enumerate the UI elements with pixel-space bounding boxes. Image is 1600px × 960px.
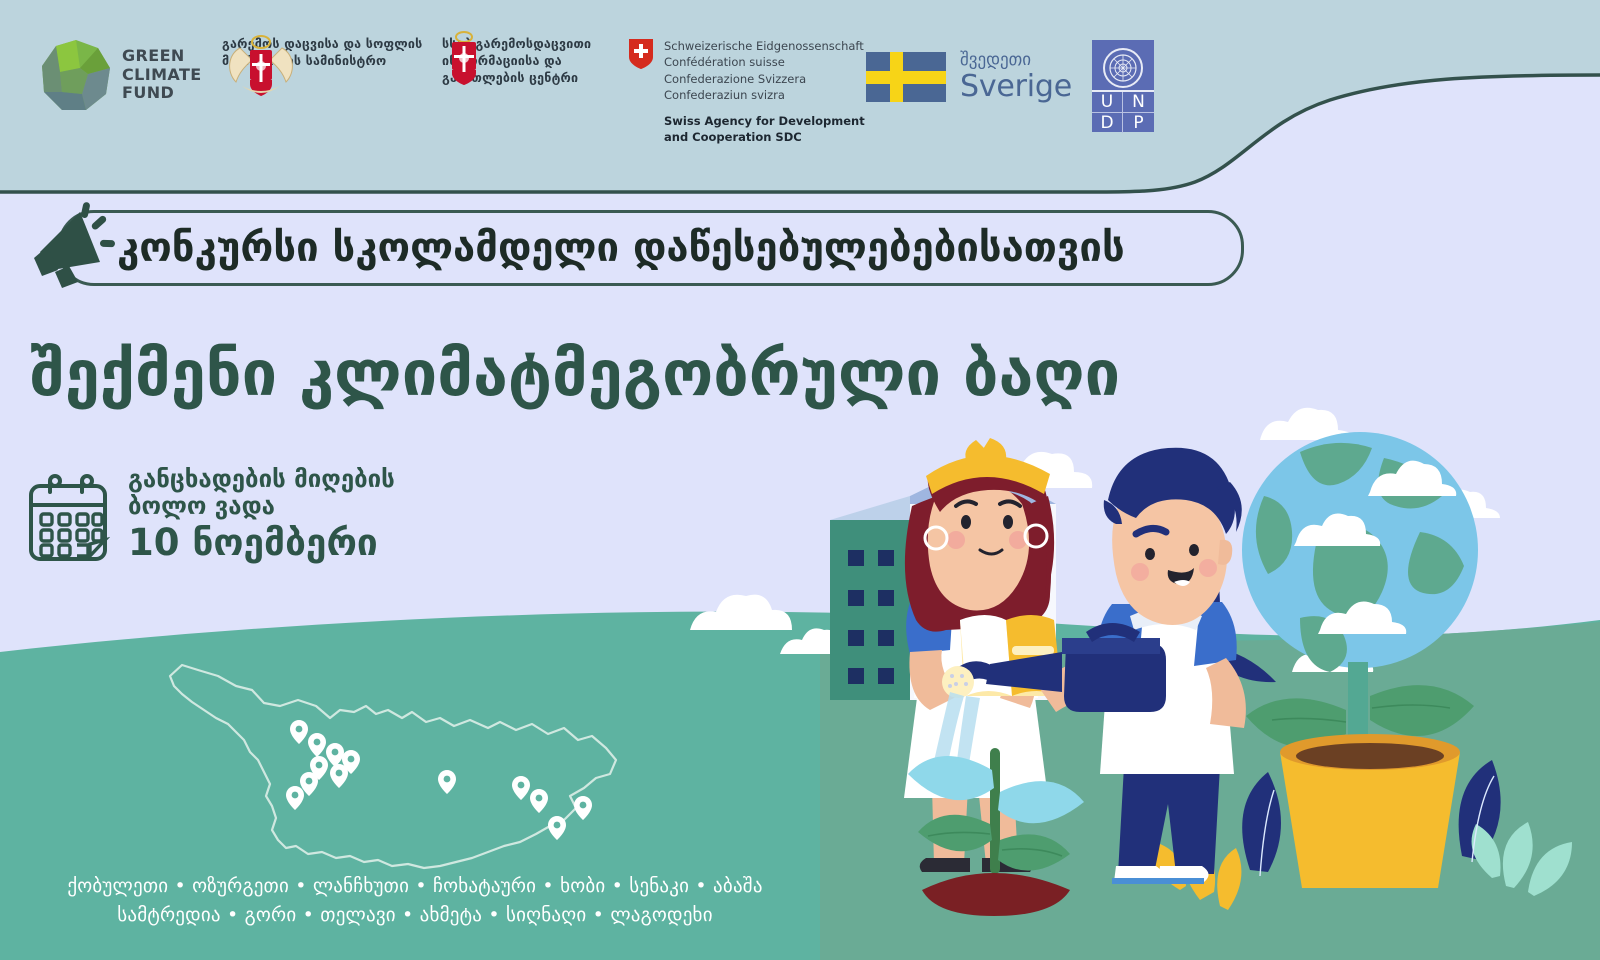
georgia-map [140,648,640,902]
megaphone-icon [22,196,118,292]
header-band: GREEN CLIMATE FUND [0,0,1600,200]
map-pin [574,796,592,824]
undp-letters: U N D P [1092,92,1154,132]
swiss-line-de: Schweizerische Eidgenossenschaft [664,38,865,54]
map-pin [548,816,566,844]
regions-line-1: ქობულეთი • ოზურგეთი • ლანჩხუთი • ჩოხატაუ… [0,872,830,901]
un-emblem-icon [1103,48,1143,88]
deadline-date: 10 ნოემბერი [128,524,395,563]
map-pin [290,720,308,748]
logo-sweden: შვედეთი Sverige [866,52,1072,102]
undp-letter-n: N [1123,92,1154,113]
swiss-line-fr: Confédération suisse [664,54,865,70]
gcf-line-2: CLIMATE [122,66,202,85]
sweden-flag-icon [866,52,946,102]
globe-plant [1242,432,1478,782]
deadline-block: განცხადების მიღების ბოლო ვადა 10 ნოემბერ… [26,466,395,564]
gcf-gem-icon [40,38,112,112]
swiss-line-it: Confederazione Svizzera [664,71,865,87]
contest-banner: კონკურსი სკოლამდელი დაწესებულებებისათვის [58,210,1244,286]
map-pin [286,786,304,814]
undp-letter-u: U [1092,92,1123,113]
undp-letter-d: D [1092,113,1123,133]
swiss-shield-icon [628,40,654,72]
apartment-building [830,496,910,700]
sweden-wordmark: შვედეთი Sverige [960,52,1072,102]
poster-root: GREEN CLIMATE FUND [0,0,1600,960]
calendar-icon [26,472,110,564]
logo-swiss-cooperation: Schweizerische Eidgenossenschaft Confédé… [628,38,865,145]
flower-pot [1280,734,1460,888]
logo-ministry-of-environment: გარემოს დაცვისა და სოფლის მეურნეობის სამ… [222,30,422,70]
regions-list: ქობულეთი • ოზურგეთი • ლანჩხუთი • ჩოხატაუ… [0,872,830,929]
gcf-line-3: FUND [122,84,202,103]
map-pin [530,789,548,817]
undp-letter-p: P [1123,113,1154,133]
sweden-label-en: Sverige [960,72,1072,102]
swiss-line-rm: Confederaziun svizra [664,87,865,103]
gcf-wordmark: GREEN CLIMATE FUND [122,47,202,103]
swiss-wordmark: Schweizerische Eidgenossenschaft Confédé… [664,38,865,145]
deadline-text: განცხადების მიღების ბოლო ვადა 10 ნოემბერ… [128,466,395,563]
deadline-label-line1: განცხადების მიღების [128,466,395,493]
map-pin [330,764,348,792]
deadline-label-line2: ბოლო ვადა [128,493,395,520]
sdc-line-1: Swiss Agency for Development [664,114,865,130]
contest-banner-text: კონკურსი სკოლამდელი დაწესებულებებისათვის [61,228,1159,268]
map-pin [438,770,456,798]
map-pin [512,776,530,804]
logo-green-climate-fund: GREEN CLIMATE FUND [40,38,202,112]
logo-environmental-information-centre: სსიპ გარემოსდაცვითი ინფორმაციისა და განა… [442,30,591,87]
sweden-label-ka: შვედეთი [960,52,1072,69]
seedling-icon [908,748,1084,916]
sdc-line-2: and Cooperation SDC [664,130,865,146]
page-title: შექმენი კლიმატმეგობრული ბაღი [30,342,1120,405]
logo-undp: U N D P [1092,40,1154,132]
logo-row: GREEN CLIMATE FUND [0,0,1600,192]
gcf-line-1: GREEN [122,47,202,66]
regions-line-2: სამტრედია • გორი • თელავი • ახმეტა • სიღ… [0,901,830,930]
